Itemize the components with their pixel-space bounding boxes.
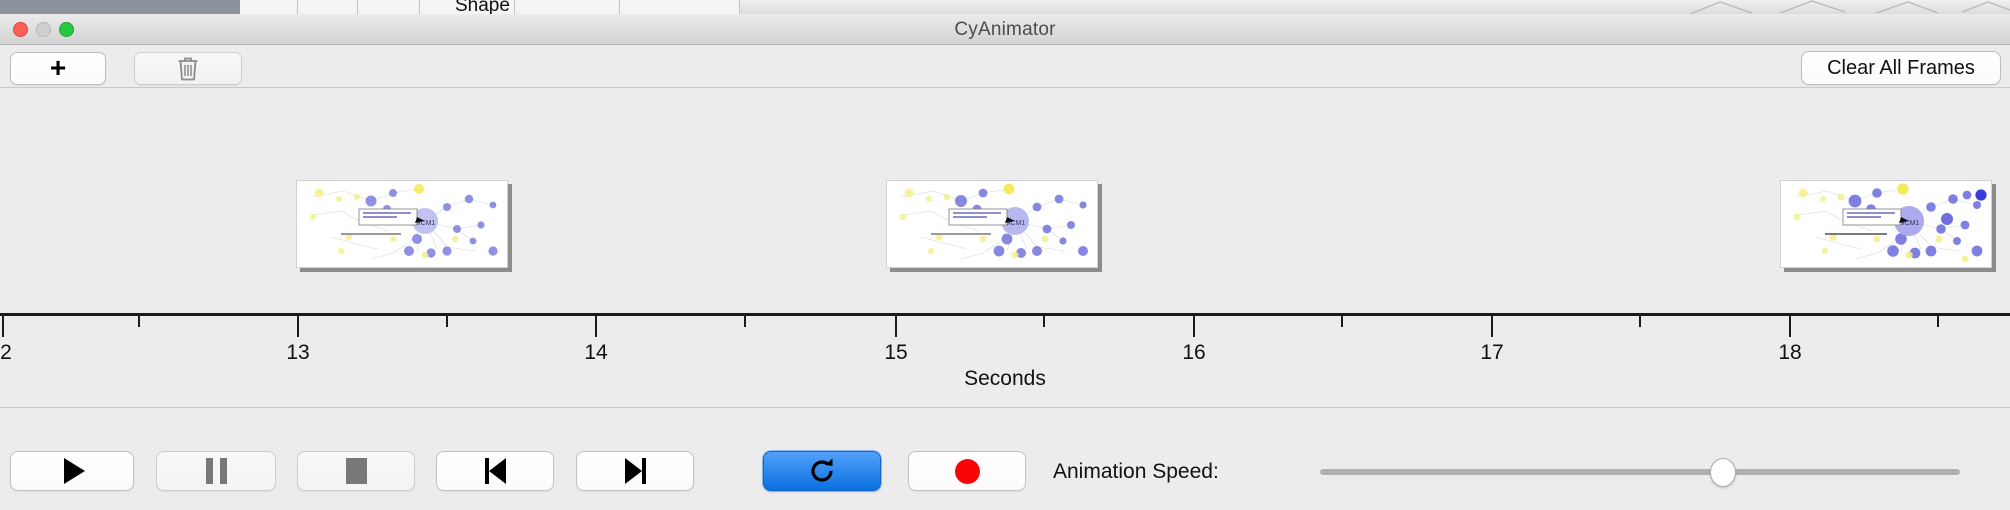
- ruler-tick-major: [2, 316, 4, 337]
- minimize-button-icon[interactable]: [36, 22, 51, 37]
- ruler-label: 13: [286, 341, 309, 365]
- animation-speed-label: Animation Speed:: [1053, 460, 1219, 484]
- frames-track[interactable]: MCM1: [0, 88, 2010, 313]
- ruler-tick-major: [297, 316, 299, 337]
- background-desktop-strip: Shape: [0, 0, 2010, 14]
- pause-button[interactable]: [156, 451, 276, 491]
- skip-back-icon: [485, 458, 506, 484]
- background-network-preview: [1680, 0, 2010, 14]
- background-cell: [240, 0, 298, 14]
- ruler-tick-minor: [744, 316, 746, 327]
- ruler-tick-minor: [1639, 316, 1641, 327]
- cyanimator-window: Shape CyAnimator +: [0, 0, 2010, 510]
- ruler-tick-major: [895, 316, 897, 337]
- ruler-tick-minor: [138, 316, 140, 327]
- background-shape-label: Shape: [455, 0, 510, 14]
- window-title: CyAnimator: [0, 14, 2010, 45]
- ruler-tick-major: [1789, 316, 1791, 337]
- next-frame-button[interactable]: [576, 451, 694, 491]
- timeline-panel: MCM1: [0, 88, 2010, 408]
- title-bar: CyAnimator: [0, 14, 2010, 45]
- ruler-tick-minor: [446, 316, 448, 327]
- timeline-ruler[interactable]: 2 13 14 15 16 17 18 Seconds: [0, 313, 2010, 371]
- plus-icon: +: [50, 54, 66, 82]
- background-cell: [298, 0, 358, 14]
- background-cell: [358, 0, 420, 14]
- ruler-tick-major: [1491, 316, 1493, 337]
- ruler-label: 18: [1778, 341, 1801, 365]
- add-frame-button[interactable]: +: [10, 52, 106, 85]
- timeline-frame[interactable]: MCM1: [296, 180, 508, 268]
- close-button-icon[interactable]: [13, 22, 28, 37]
- ruler-label: 2: [0, 341, 12, 365]
- ruler-label: 15: [884, 341, 907, 365]
- background-dark-panel: [0, 0, 240, 14]
- previous-frame-button[interactable]: [436, 451, 554, 491]
- ruler-tick-major: [595, 316, 597, 337]
- loop-icon: [807, 456, 837, 486]
- maximize-button-icon[interactable]: [59, 22, 74, 37]
- traffic-lights: [13, 22, 74, 37]
- ruler-label: 14: [584, 341, 607, 365]
- animation-speed-thumb[interactable]: [1710, 458, 1736, 487]
- delete-frame-button[interactable]: [134, 52, 242, 85]
- stop-icon: [346, 458, 367, 484]
- background-cell: [515, 0, 620, 14]
- loop-button[interactable]: [763, 451, 881, 491]
- timeline-frame[interactable]: MCM1: [886, 180, 1098, 268]
- stop-button[interactable]: [297, 451, 415, 491]
- toolbar: + Clear All Frames: [0, 45, 2010, 88]
- ruler-tick-minor: [1341, 316, 1343, 327]
- play-icon: [64, 458, 85, 484]
- ruler-baseline: [0, 313, 2010, 316]
- timeline-frame[interactable]: MCM1: [1780, 180, 1992, 268]
- skip-forward-icon: [625, 458, 646, 484]
- play-button[interactable]: [10, 451, 134, 491]
- animation-speed-slider[interactable]: [1320, 469, 1960, 475]
- trash-icon: [175, 55, 201, 83]
- record-icon: [955, 459, 980, 484]
- ruler-label: 17: [1480, 341, 1503, 365]
- ruler-tick-minor: [1043, 316, 1045, 327]
- ruler-tick-major: [1193, 316, 1195, 337]
- pause-icon: [206, 458, 227, 484]
- record-button[interactable]: [908, 451, 1026, 491]
- ruler-tick-minor: [1937, 316, 1939, 327]
- transport-bar: Animation Speed:: [0, 438, 2010, 510]
- axis-title-seconds: Seconds: [0, 367, 2010, 391]
- background-cell: [620, 0, 740, 14]
- clear-all-frames-button[interactable]: Clear All Frames: [1801, 51, 2001, 85]
- ruler-label: 16: [1182, 341, 1205, 365]
